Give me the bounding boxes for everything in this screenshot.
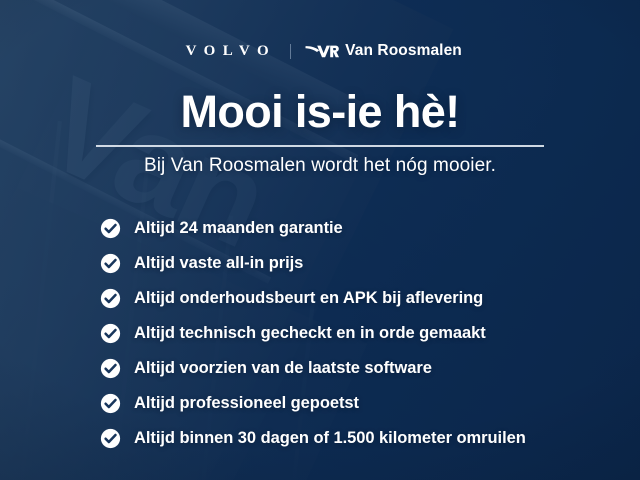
check-circle-icon bbox=[100, 428, 121, 449]
promo-banner: Van VOLVO Van Roosmalen Mooi is-ie hè! B… bbox=[0, 0, 640, 480]
vertical-divider-icon bbox=[290, 44, 291, 59]
benefit-item: Altijd vaste all-in prijs bbox=[100, 246, 624, 281]
benefit-label: Altijd voorzien van de laatste software bbox=[134, 359, 432, 378]
benefit-label: Altijd professioneel gepoetst bbox=[134, 394, 359, 413]
benefit-label: Altijd binnen 30 dagen of 1.500 kilomete… bbox=[134, 429, 526, 448]
headline: Mooi is-ie hè! bbox=[0, 86, 640, 138]
benefit-item: Altijd technisch gecheckt en in orde gem… bbox=[100, 316, 624, 351]
benefit-item: Altijd 24 maanden garantie bbox=[100, 211, 624, 246]
benefit-label: Altijd 24 maanden garantie bbox=[134, 219, 343, 238]
check-circle-icon bbox=[100, 358, 121, 379]
benefit-label: Altijd technisch gecheckt en in orde gem… bbox=[134, 324, 486, 343]
vr-monogram-icon bbox=[305, 43, 339, 60]
benefit-label: Altijd onderhoudsbeurt en APK bij afleve… bbox=[134, 289, 483, 308]
benefit-item: Altijd onderhoudsbeurt en APK bij afleve… bbox=[100, 281, 624, 316]
benefit-item: Altijd professioneel gepoetst bbox=[100, 386, 624, 421]
dealer-name: Van Roosmalen bbox=[345, 42, 462, 60]
benefit-item: Altijd voorzien van de laatste software bbox=[100, 351, 624, 386]
benefit-label: Altijd vaste all-in prijs bbox=[134, 254, 303, 273]
check-circle-icon bbox=[100, 323, 121, 344]
check-circle-icon bbox=[100, 393, 121, 414]
benefit-item: Altijd binnen 30 dagen of 1.500 kilomete… bbox=[100, 421, 624, 456]
volvo-wordmark: VOLVO bbox=[178, 43, 276, 60]
benefits-checklist: Altijd 24 maanden garantieAltijd vaste a… bbox=[100, 211, 624, 456]
dealer-logo-lockup: Van Roosmalen bbox=[305, 42, 462, 60]
check-circle-icon bbox=[100, 253, 121, 274]
check-circle-icon bbox=[100, 218, 121, 239]
headline-divider bbox=[96, 145, 544, 147]
check-circle-icon bbox=[100, 288, 121, 309]
logo-bar: VOLVO Van Roosmalen bbox=[0, 38, 640, 64]
subtitle: Bij Van Roosmalen wordt het nóg mooier. bbox=[0, 155, 640, 177]
